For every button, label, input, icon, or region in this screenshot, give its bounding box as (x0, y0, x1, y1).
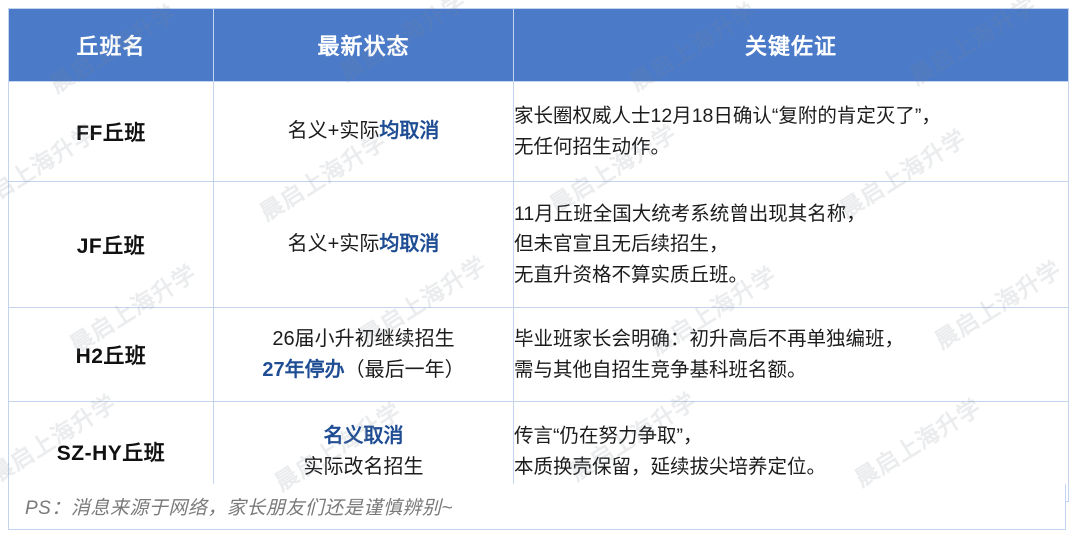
status-highlight-text: 名义取消 (214, 421, 513, 451)
cell-status: 名义+实际均取消 (214, 182, 514, 308)
evidence-line: 无直升资格不算实质丘班。 (514, 260, 1068, 290)
status-second-line: 27年停办（最后一年） (214, 355, 513, 385)
table-row: JF丘班 名义+实际均取消 11月丘班全国大统考系统曾出现其名称， 但未官宣且无… (9, 182, 1069, 308)
status-highlight-text: 均取消 (379, 120, 439, 142)
table-row: H2丘班 26届小升初继续招生 27年停办（最后一年） 毕业班家长会明确：初升高… (9, 308, 1069, 402)
status-second-line: 实际改名招生 (214, 452, 513, 482)
status-highlight-text: 27年停办 (262, 359, 344, 381)
status-highlight-text: 均取消 (379, 233, 439, 255)
evidence-line: 无任何招生动作。 (514, 132, 1068, 162)
cell-class-name: JF丘班 (9, 182, 214, 308)
evidence-line: 毕业班家长会明确：初升高后不再单独编班， (514, 324, 1068, 354)
evidence-line: 家长圈权威人士12月18日确认“复附的肯定灭了”， (514, 101, 1068, 131)
cell-status: 26届小升初继续招生 27年停办（最后一年） (214, 308, 514, 402)
table-header: 丘班名 最新状态 关键佐证 (9, 9, 1069, 82)
table-body: FF丘班 名义+实际均取消 家长圈权威人士12月18日确认“复附的肯定灭了”， … (9, 82, 1069, 502)
evidence-line: 本质换壳保留，延续拔尖培养定位。 (514, 452, 1068, 482)
comparison-table-container: 丘班名 最新状态 关键佐证 FF丘班 名义+实际均取消 家长圈权威人士12月18… (8, 8, 1068, 502)
status-suffix-text: （最后一年） (345, 359, 465, 381)
cell-status: 名义+实际均取消 (214, 82, 514, 182)
evidence-line: 传言“仍在努力争取”， (514, 421, 1068, 451)
status-plain-text: 名义+实际 (288, 233, 380, 255)
footer-note: PS：消息来源于网络，家长朋友们还是谨慎辨别~ (8, 484, 1066, 530)
cell-evidence: 毕业班家长会明确：初升高后不再单独编班， 需与其他自招生竞争基科班名额。 (514, 308, 1069, 402)
table-header-row: 丘班名 最新状态 关键佐证 (9, 9, 1069, 82)
header-key-evidence: 关键佐证 (514, 9, 1069, 82)
header-latest-status: 最新状态 (214, 9, 514, 82)
evidence-line: 但未官宣且无后续招生， (514, 229, 1068, 259)
cell-evidence: 家长圈权威人士12月18日确认“复附的肯定灭了”， 无任何招生动作。 (514, 82, 1069, 182)
cell-evidence: 11月丘班全国大统考系统曾出现其名称， 但未官宣且无后续招生， 无直升资格不算实… (514, 182, 1069, 308)
evidence-line: 需与其他自招生竞争基科班名额。 (514, 355, 1068, 385)
cell-class-name: H2丘班 (9, 308, 214, 402)
footer-note-text: PS：消息来源于网络，家长朋友们还是谨慎辨别~ (9, 493, 453, 520)
evidence-line: 11月丘班全国大统考系统曾出现其名称， (514, 199, 1068, 229)
table-row: FF丘班 名义+实际均取消 家长圈权威人士12月18日确认“复附的肯定灭了”， … (9, 82, 1069, 182)
status-plain-text: 26届小升初继续招生 (214, 324, 513, 354)
cell-class-name: FF丘班 (9, 82, 214, 182)
header-class-name: 丘班名 (9, 9, 214, 82)
status-plain-text: 名义+实际 (288, 120, 380, 142)
comparison-table: 丘班名 最新状态 关键佐证 FF丘班 名义+实际均取消 家长圈权威人士12月18… (8, 8, 1069, 502)
